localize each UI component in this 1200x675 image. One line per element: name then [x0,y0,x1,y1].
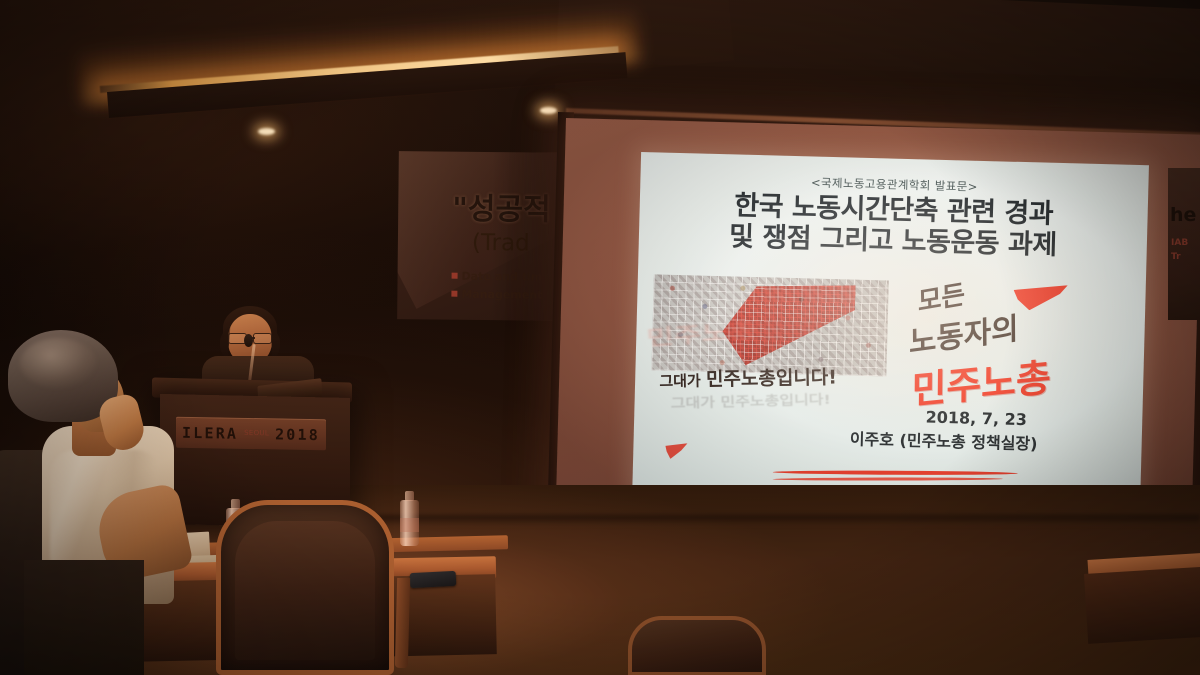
slide-title: 한국 노동시간단축 관련 경과 및 쟁점 그리고 노동운동 과제 [649,188,1138,263]
slide-flag-mark-icon [665,443,687,460]
stage-banner-left: "성공적 (Trad Date and tim Management [397,151,569,321]
smartphone-on-table [410,571,457,588]
banner-quote-title: "성공적 [452,184,551,229]
banner-bullet-1-text: Date and tim [462,270,543,284]
banquet-chair-center [216,500,394,675]
side-table-skirt [1084,566,1200,644]
projection-screen: <국제노동고용관계학회 발표문> 한국 노동시간단축 관련 경과 및 쟁점 그리… [555,118,1200,547]
underline-stroke-2 [773,477,1003,480]
banquet-chair-right [628,616,766,675]
banner-bullet-1: Date and tim [452,270,543,284]
ceiling-downlight-2 [540,107,557,114]
ceiling-downlight-1 [258,128,275,135]
banner-subtitle: (Trad [472,230,530,257]
audience-hair-highlight [20,338,96,388]
banner-right-line1: IAB [1171,238,1188,248]
glasses-lens-right [253,333,272,344]
underline-stroke-1 [773,470,1018,475]
mosaic-caption-small: 그대가 [659,372,701,391]
stage-banner-right: he IAB Tr [1168,168,1200,320]
red-flag-icon [1013,284,1068,311]
square-bullet-icon [451,291,457,297]
podium-year-text: 2018 [275,425,320,444]
mosaic-caption-big: 민주노총입니다! [706,366,837,390]
slide-title-line2: 및 쟁점 그리고 노동운동 과제 [649,220,1138,264]
podium-center-mark: SEOUL [244,430,269,438]
conference-photo: "성공적 (Trad Date and tim Management <국제노동… [0,0,1200,675]
square-bullet-icon [452,273,458,279]
banner-bullet-2-text: Management [461,288,542,302]
presentation-slide: <국제노동고용관계학회 발표문> 한국 노동시간단축 관련 경과 및 쟁점 그리… [632,152,1149,511]
water-bottle-right [400,500,419,546]
banner-right-line2: Tr [1171,252,1181,262]
audience-member-foreground [0,330,210,675]
head-table-leg [395,578,410,668]
audience-lower-body [24,560,144,675]
banner-bullet-2: Management [451,288,542,302]
banner-right-title: he [1170,204,1196,226]
